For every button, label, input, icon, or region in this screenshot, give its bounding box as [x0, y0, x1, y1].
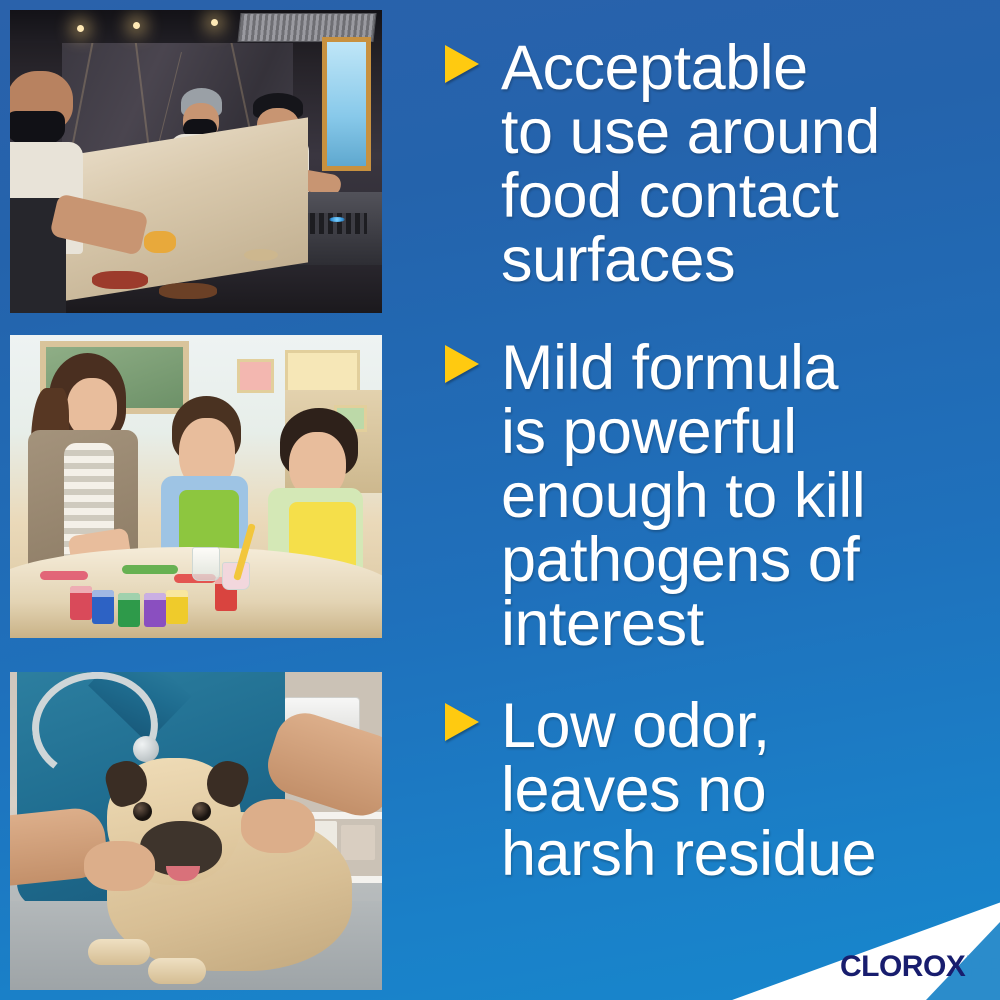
photo-veterinarian-pug — [10, 672, 382, 990]
bullet-text-1: Acceptable to use around food contact su… — [501, 36, 880, 292]
bullet-text-3: Low odor, leaves no harsh residue — [501, 694, 876, 886]
bullet-item-2: Mild formula is powerful enough to kill … — [440, 336, 865, 656]
play-triangle-icon — [445, 703, 479, 741]
play-triangle-icon — [445, 345, 479, 383]
bullet-item-1: Acceptable to use around food contact su… — [440, 36, 880, 292]
play-triangle-icon — [445, 45, 479, 83]
photo-commercial-kitchen — [10, 10, 382, 313]
bullet-item-3: Low odor, leaves no harsh residue — [440, 694, 876, 886]
bullet-list: Acceptable to use around food contact su… — [440, 0, 1000, 1000]
logo-clorox-text: CLOROX — [840, 950, 965, 983]
photo-classroom-children — [10, 335, 382, 638]
clorox-pro-logo: CLOROXPR — [840, 950, 1000, 984]
marketing-banner: Acceptable to use around food contact su… — [0, 0, 1000, 1000]
bullet-text-2: Mild formula is powerful enough to kill … — [501, 336, 865, 656]
logo-pro-text: PR — [965, 950, 1000, 983]
